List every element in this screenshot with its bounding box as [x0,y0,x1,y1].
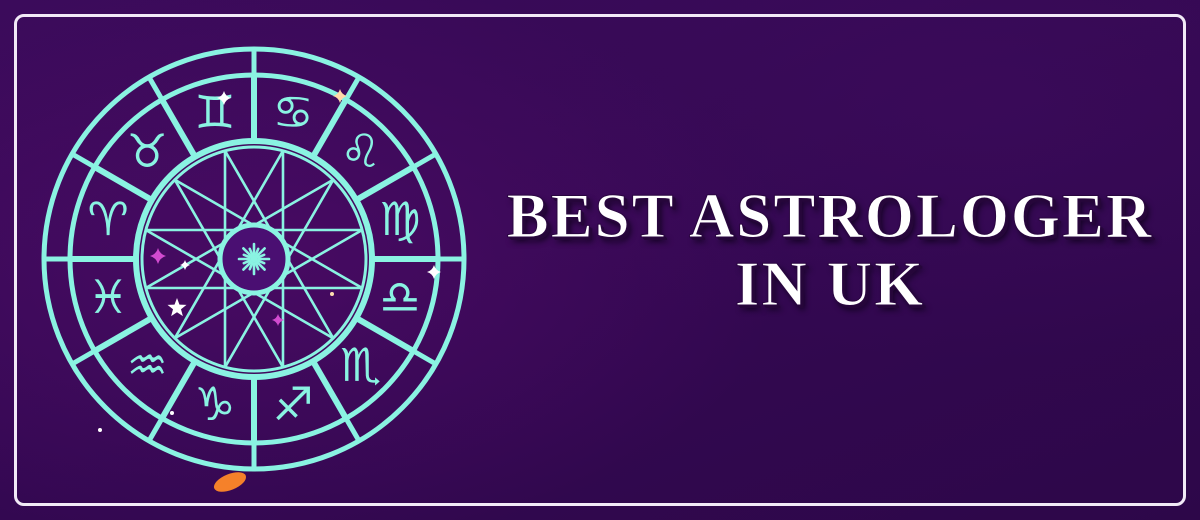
zodiac-sign-sagittarius: ♐ [272,377,313,431]
zodiac-sign-taurus: ♉ [127,124,168,178]
star-decoration [167,298,186,316]
zodiac-sign-cancer: ♋ [272,85,313,139]
zodiac-sign-aquarius: ♒ [127,338,168,392]
magenta-sparkle-decoration [150,248,166,264]
zodiac-sign-leo: ♌ [340,124,381,178]
sunburst-core [250,255,257,262]
wheel-outer-divider [72,351,95,364]
zodiac-sign-virgo: ♍ [379,192,420,246]
zodiac-sign-scorpio: ♏ [340,338,381,392]
wheel-outer-divider [346,77,359,100]
wheel-outer-divider [149,418,162,441]
wheel-outer-divider [346,418,359,441]
sunburst-icon [239,244,269,274]
wheel-outer-divider [413,351,436,364]
zodiac-wheel: ♈♉♊♋♌♍♎♏♐♑♒♓ [40,30,468,488]
headline-line-1: BEST ASTROLOGER [500,186,1160,248]
dot-decoration [98,428,102,432]
zodiac-sign-libra: ♎ [379,270,420,324]
zodiac-sign-gemini: ♊ [194,85,235,139]
astrology-banner: ♈♉♊♋♌♍♎♏♐♑♒♓ BEST ASTROLOGER IN UK [0,0,1200,520]
comet-decoration [211,468,249,496]
wheel-outer-divider [149,77,162,100]
headline-line-2: IN UK [500,254,1160,316]
wheel-outer-divider [413,154,436,167]
dot-decoration [330,292,334,296]
wheel-outer-divider [72,154,95,167]
dot-decoration [170,411,174,415]
page-title: BEST ASTROLOGER IN UK [500,186,1160,315]
zodiac-sign-aries: ♈ [88,192,129,246]
zodiac-sign-capricorn: ♑ [194,377,235,431]
zodiac-wheel-graphic: ♈♉♊♋♌♍♎♏♐♑♒♓ [40,30,468,488]
zodiac-sign-pisces: ♓ [88,270,129,324]
